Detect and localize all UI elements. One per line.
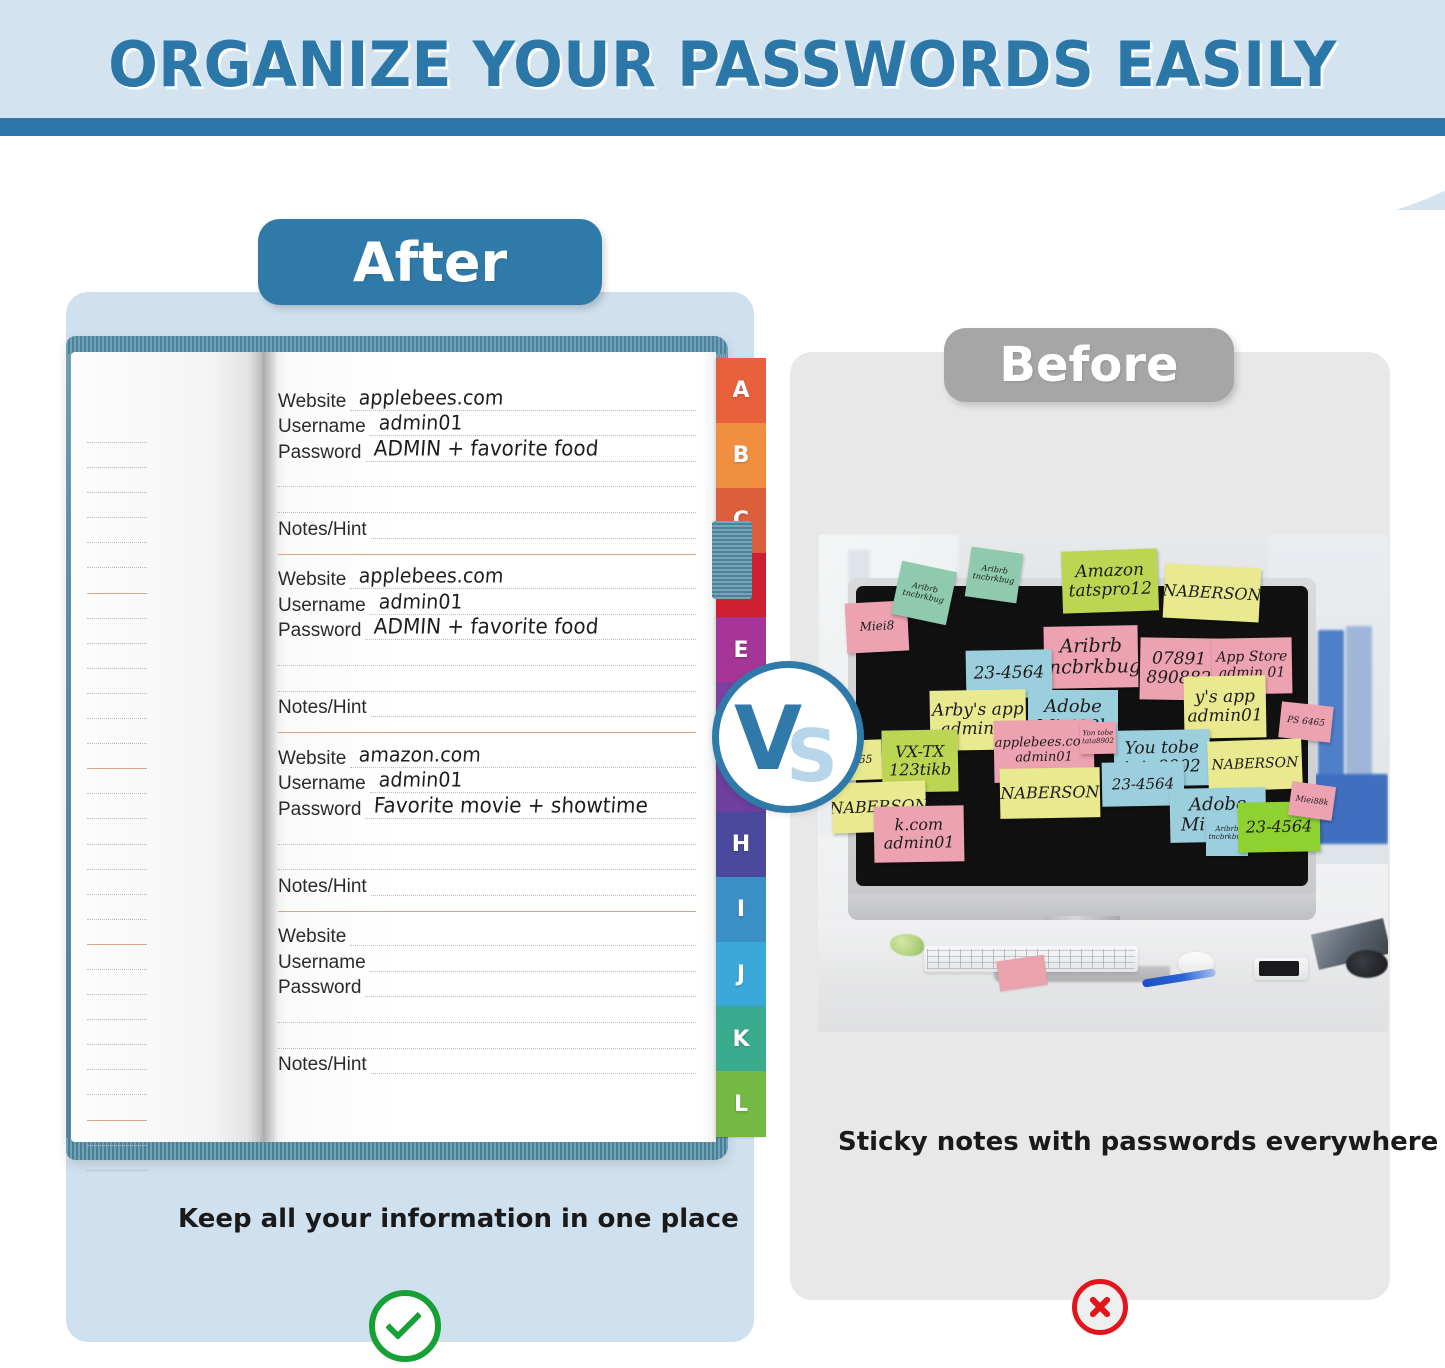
notes-value-line[interactable] xyxy=(371,516,696,542)
password-value-line[interactable]: ADMIN + favorite food xyxy=(365,618,696,644)
sticky-note-text: 23-4564 xyxy=(1112,775,1175,793)
sticky-note-text: 07891 xyxy=(1152,649,1206,669)
notes-label: Notes/Hint xyxy=(278,698,367,720)
website-value-line[interactable] xyxy=(350,924,696,950)
password-label: Password xyxy=(278,443,361,465)
entry-row-notes[interactable]: Notes/Hint xyxy=(278,1052,696,1078)
notes-value-line[interactable] xyxy=(371,1052,696,1078)
entry-row-password[interactable]: Password xyxy=(278,975,696,1001)
sticky-note-text: admin01 xyxy=(884,833,955,852)
sticky-note-text: NABERSON xyxy=(1163,581,1262,604)
header-wave-white xyxy=(0,136,1445,210)
username-value-line[interactable] xyxy=(370,949,696,975)
entry-row-notes[interactable]: Notes/Hint xyxy=(278,516,696,542)
sticky-note[interactable]: PS 6465 xyxy=(1278,701,1333,742)
left-page-line xyxy=(87,793,147,794)
sticky-note-text: Miei8 xyxy=(859,619,894,634)
left-page-line xyxy=(87,919,147,920)
password-entry[interactable]: WebsiteUsernamePasswordNotes/Hint xyxy=(278,924,696,1078)
website-label: Website xyxy=(278,927,346,949)
username-label: Username xyxy=(278,953,366,975)
sticky-note-text: NABERSON xyxy=(1211,756,1298,775)
after-badge: After xyxy=(258,219,602,305)
left-page-line xyxy=(87,1145,147,1146)
website-label: Website xyxy=(278,392,346,414)
before-badge-label: Before xyxy=(999,337,1178,393)
left-page-separator xyxy=(87,593,147,594)
blank-line[interactable] xyxy=(278,1000,696,1026)
notes-label: Notes/Hint xyxy=(278,877,367,899)
left-page-separator xyxy=(87,768,147,769)
left-page-line xyxy=(87,668,147,669)
sticky-note[interactable]: Aribrbtncbrkbug xyxy=(891,561,957,625)
alphabet-tab-label: L xyxy=(734,1092,748,1117)
header-banner: ORGANIZE YOUR PASSWORDS EASILY xyxy=(0,0,1445,210)
alphabet-tab-j[interactable]: J xyxy=(716,942,766,1008)
password-value-line[interactable]: ADMIN + favorite food xyxy=(365,439,696,465)
left-page-line xyxy=(87,1069,147,1070)
left-page-line xyxy=(87,818,147,819)
sticky-note-text: admin01 xyxy=(1187,706,1262,726)
sticky-note[interactable]: Miei88k xyxy=(1288,781,1336,821)
sticky-note-text: k.com xyxy=(894,816,943,835)
notebook-spine-gutter xyxy=(248,352,278,1142)
notes-value-line[interactable] xyxy=(371,695,696,721)
left-page-line xyxy=(87,693,147,694)
notebook-elastic-clasp xyxy=(712,521,752,599)
left-page-line xyxy=(87,643,147,644)
sticky-note-text: tncbrkbug xyxy=(972,572,1015,587)
entry-row-website[interactable]: Website xyxy=(278,924,696,950)
entry-separator xyxy=(278,732,696,733)
blank-line[interactable] xyxy=(278,643,696,669)
versus-secondary-letter: S xyxy=(786,728,838,786)
infographic-root: ORGANIZE YOUR PASSWORDS EASILY Websiteap… xyxy=(0,0,1445,1368)
sticky-note-text: VX-TX xyxy=(895,743,945,762)
check-circle-icon xyxy=(369,1290,441,1362)
entry-row-password[interactable]: PasswordFavorite movie + showtime xyxy=(278,796,696,822)
sticky-note-text: tata8902 xyxy=(1082,738,1114,746)
left-page-separator xyxy=(87,944,147,945)
left-page-line xyxy=(87,1044,147,1045)
password-value-line[interactable]: Favorite movie + showtime xyxy=(365,796,696,822)
sticky-note[interactable]: NABERSON xyxy=(1000,767,1101,819)
alphabet-tab-a[interactable]: A xyxy=(716,358,766,424)
entry-row-notes[interactable]: Notes/Hint xyxy=(278,695,696,721)
cross-glyph xyxy=(1085,1292,1115,1322)
left-page-line xyxy=(87,618,147,619)
notes-label: Notes/Hint xyxy=(278,1055,367,1077)
alphabet-tab-label: A xyxy=(732,378,749,403)
entry-row-website[interactable]: Websiteapplebees.com xyxy=(278,388,696,414)
sticky-note[interactable]: Aribrbtncbrkbug xyxy=(1043,625,1138,689)
left-page-line xyxy=(87,844,147,845)
smartphone-icon xyxy=(1254,958,1308,980)
sticky-note[interactable]: NABERSON xyxy=(1207,738,1303,791)
entry-row-password[interactable]: PasswordADMIN + favorite food xyxy=(278,618,696,644)
password-label: Password xyxy=(278,800,361,822)
username-label: Username xyxy=(278,596,366,618)
alphabet-tab-i[interactable]: I xyxy=(716,877,766,943)
blank-line[interactable] xyxy=(278,1026,696,1052)
notes-label: Notes/Hint xyxy=(278,520,367,542)
headphones-icon xyxy=(1346,950,1388,978)
entry-row-username[interactable]: Username xyxy=(278,949,696,975)
username-value: admin01 xyxy=(378,769,463,792)
left-page-line xyxy=(87,1170,147,1171)
sticky-note[interactable]: Amazontatspro12 xyxy=(1061,548,1159,613)
website-value-line[interactable]: amazon.com xyxy=(350,745,696,771)
sticky-note-text: Adobe xyxy=(1044,697,1102,717)
left-page-line xyxy=(87,969,147,970)
blank-line[interactable] xyxy=(278,822,696,848)
alphabet-tab-label: H xyxy=(732,832,750,857)
after-badge-label: After xyxy=(353,231,507,294)
sticky-note-text: NABERSON xyxy=(1000,783,1099,803)
left-page-line xyxy=(87,1094,147,1095)
website-value-line[interactable]: applebees.com xyxy=(350,388,696,414)
password-entry[interactable]: Websiteapplebees.comUsernameadmin01Passw… xyxy=(278,388,696,542)
left-page-line xyxy=(87,542,147,543)
password-label: Password xyxy=(278,978,361,1000)
website-value-line[interactable]: applebees.com xyxy=(350,567,696,593)
cluttered-monitor-photo: Miei8AribrbtncbrkbugAribrbtncbrkbugAmazo… xyxy=(818,534,1388,1032)
password-value: ADMIN + favorite food xyxy=(373,614,599,639)
alphabet-tab-label: I xyxy=(737,897,745,922)
sticky-note[interactable]: k.comadmin01 xyxy=(874,805,965,863)
password-entry-list: Websiteapplebees.comUsernameadmin01Passw… xyxy=(278,388,696,1077)
password-entry[interactable]: Websiteamazon.comUsernameadmin01Password… xyxy=(278,745,696,899)
left-page-line xyxy=(87,718,147,719)
binder-icon xyxy=(1346,626,1372,782)
password-entry[interactable]: Websiteapplebees.comUsernameadmin01Passw… xyxy=(278,567,696,721)
entry-row-website[interactable]: Websiteapplebees.com xyxy=(278,567,696,593)
password-value: ADMIN + favorite food xyxy=(373,435,599,460)
sticky-note-text: Aribrb xyxy=(1059,635,1122,657)
x-circle-icon xyxy=(1072,1279,1128,1335)
after-caption: Keep all your information in one place xyxy=(178,1204,739,1234)
username-label: Username xyxy=(278,417,366,439)
sticky-note-text: 23-4564 xyxy=(1246,817,1313,836)
website-value: applebees.com xyxy=(358,386,504,409)
left-page-line xyxy=(87,442,147,443)
alphabet-tab-l[interactable]: L xyxy=(716,1071,766,1137)
notebook-left-page xyxy=(71,352,267,1142)
left-page-ruled-lines xyxy=(87,442,147,1195)
left-page-line xyxy=(87,869,147,870)
before-badge: Before xyxy=(944,328,1234,402)
website-value: applebees.com xyxy=(358,565,504,588)
left-page-line xyxy=(87,567,147,568)
left-page-line xyxy=(87,517,147,518)
checkmark-glyph xyxy=(385,1303,422,1340)
password-value: Favorite movie + showtime xyxy=(373,792,649,817)
blank-line[interactable] xyxy=(278,465,696,491)
entry-separator xyxy=(278,911,696,912)
website-label: Website xyxy=(278,570,346,592)
sticky-note[interactable]: NABERSON xyxy=(1163,564,1262,623)
alphabet-tab-label: E xyxy=(733,638,748,663)
left-page-separator xyxy=(87,1120,147,1121)
sticky-note-text: PS 6465 xyxy=(1287,715,1326,729)
sticky-note-text: tncbrkbug xyxy=(1043,656,1138,679)
password-notebook: Websiteapplebees.comUsernameadmin01Passw… xyxy=(66,336,728,1160)
sticky-note[interactable]: Aribrbtncbrkbug xyxy=(965,547,1023,604)
page-title: ORGANIZE YOUR PASSWORDS EASILY xyxy=(43,28,1401,101)
username-value: admin01 xyxy=(378,590,463,613)
left-page-line xyxy=(87,994,147,995)
left-page-line xyxy=(87,894,147,895)
alphabet-tab-label: K xyxy=(732,1027,749,1052)
entry-separator xyxy=(278,554,696,555)
left-page-line xyxy=(87,743,147,744)
alphabet-tab-h[interactable]: H xyxy=(716,812,766,878)
sticky-note-text: y's app xyxy=(1195,687,1256,707)
alphabet-tab-k[interactable]: K xyxy=(716,1006,766,1072)
blank-line[interactable] xyxy=(278,490,696,516)
left-page-line xyxy=(87,492,147,493)
sticky-note[interactable]: Yon tobetata8902 xyxy=(1080,722,1117,755)
alphabet-tab-label: J xyxy=(737,962,745,987)
website-label: Website xyxy=(278,749,346,771)
sticky-note-text: Miei88k xyxy=(1295,794,1329,807)
alphabet-tab-b[interactable]: B xyxy=(716,423,766,489)
blank-line[interactable] xyxy=(278,848,696,874)
website-value: amazon.com xyxy=(358,743,482,766)
versus-badge: V S xyxy=(712,661,864,813)
sticky-note-text: admin01 xyxy=(1015,750,1073,766)
password-value-line[interactable] xyxy=(365,975,696,1001)
before-caption: Sticky notes with passwords everywhere xyxy=(838,1127,1438,1157)
left-page-line xyxy=(87,1019,147,1020)
entry-row-website[interactable]: Websiteamazon.com xyxy=(278,745,696,771)
password-label: Password xyxy=(278,621,361,643)
sticky-note-text: 123tikb xyxy=(889,760,951,779)
left-page-line xyxy=(87,467,147,468)
entry-row-password[interactable]: PasswordADMIN + favorite food xyxy=(278,439,696,465)
sticky-note-text: tncbrkbug xyxy=(902,589,945,606)
alphabet-tab-label: B xyxy=(733,443,750,468)
entry-row-notes[interactable]: Notes/Hint xyxy=(278,873,696,899)
sticky-note-text: 23-4564 xyxy=(974,664,1045,684)
username-label: Username xyxy=(278,774,366,796)
username-value: admin01 xyxy=(378,412,463,435)
blank-line[interactable] xyxy=(278,669,696,695)
notes-value-line[interactable] xyxy=(371,873,696,899)
sticky-note-text: tatspro12 xyxy=(1068,580,1152,602)
